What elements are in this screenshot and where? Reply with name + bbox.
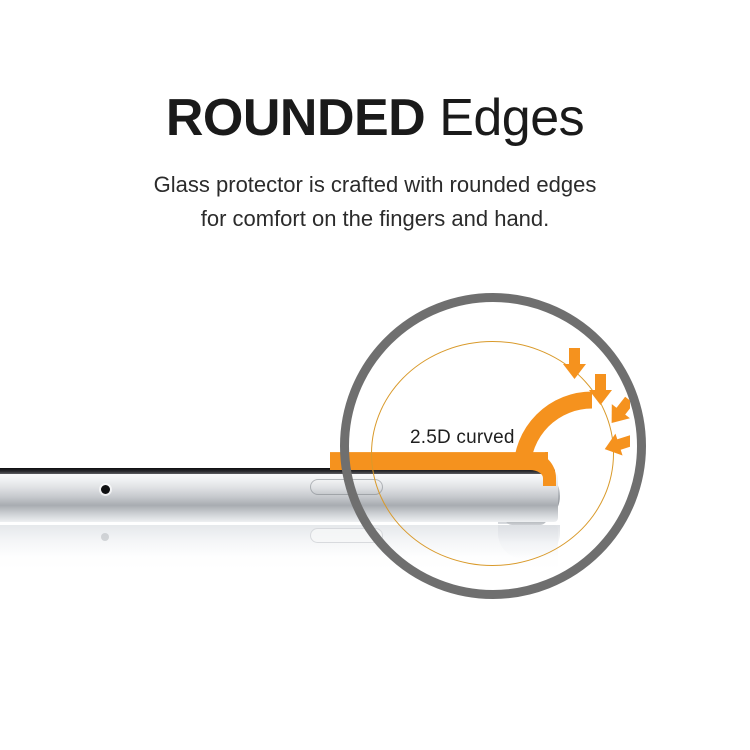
product-feature-image: ROUNDED Edges Glass protector is crafted…: [0, 0, 750, 750]
pressure-indicator-group: [500, 348, 630, 478]
page-title-separator: [425, 89, 439, 147]
pressure-arrow-down-1: [563, 348, 586, 379]
callout-label-2-5d-curved: 2.5D curved: [410, 427, 515, 449]
page-subtitle-line-2: for comfort on the fingers and hand.: [0, 202, 750, 236]
page-title-emphasis: ROUNDED: [166, 89, 425, 147]
phone-microphone-hole: [101, 485, 110, 494]
page-title: ROUNDED Edges: [0, 92, 750, 144]
page-subtitle: Glass protector is crafted with rounded …: [0, 168, 750, 236]
pressure-arrow-right: [601, 429, 630, 460]
pressure-arrow-down-2: [589, 374, 612, 405]
page-subtitle-line-1: Glass protector is crafted with rounded …: [0, 168, 750, 202]
curved-edge-arc: [522, 400, 592, 470]
pressure-arrow-diagonal: [603, 393, 630, 430]
page-title-rest: Edges: [439, 89, 584, 147]
phone-reflection-microphone-hole: [101, 533, 109, 541]
